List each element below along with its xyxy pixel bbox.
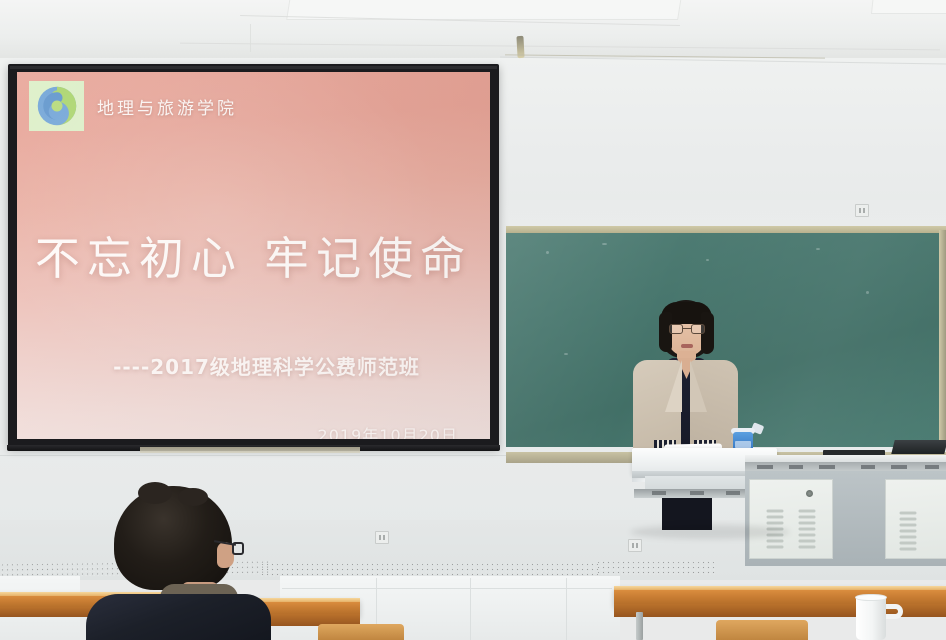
mug-handle bbox=[884, 604, 903, 619]
tile-seam bbox=[282, 588, 612, 589]
rail-marking bbox=[726, 491, 740, 495]
rail-marking bbox=[690, 491, 704, 495]
chalk-dust bbox=[546, 251, 549, 254]
rail-marking bbox=[925, 465, 939, 469]
cabinet-door[interactable] bbox=[885, 479, 946, 559]
counter-equipment bbox=[891, 440, 946, 454]
rail-marking bbox=[757, 465, 773, 469]
projection-screen[interactable]: 地理与旅游学院 不忘初心 牢记使命 ----2017级地理科学公费师范班 201… bbox=[8, 64, 499, 447]
rail-marking bbox=[789, 465, 803, 469]
classroom-photo-scene: 地理与旅游学院 不忘初心 牢记使命 ----2017级地理科学公费师范班 201… bbox=[0, 0, 946, 640]
student-hair bbox=[114, 486, 232, 590]
cabinet-door[interactable] bbox=[749, 479, 833, 559]
rail-marking bbox=[652, 491, 666, 495]
chalk-dust bbox=[816, 248, 820, 250]
ceiling-seam bbox=[250, 24, 251, 52]
student-glasses-icon bbox=[232, 542, 244, 555]
student-foreground bbox=[86, 486, 271, 640]
wall-seam bbox=[0, 455, 506, 456]
rail-marking bbox=[861, 465, 875, 469]
podium-shadow bbox=[630, 525, 790, 539]
wall-outlet[interactable] bbox=[628, 539, 642, 552]
mug-rim bbox=[855, 594, 887, 601]
presenter-mouth bbox=[681, 344, 693, 348]
cabinet-knob[interactable] bbox=[806, 490, 813, 497]
baseboard bbox=[596, 560, 716, 576]
chalk-dust bbox=[706, 259, 709, 261]
screen-bezel-highlight bbox=[10, 66, 497, 69]
desk[interactable] bbox=[614, 586, 946, 606]
slide-vignette bbox=[17, 72, 490, 439]
podium-rail bbox=[634, 489, 752, 498]
wall-outlet[interactable] bbox=[375, 531, 389, 544]
blackboard-right-edge bbox=[939, 230, 946, 446]
white-mug[interactable] bbox=[856, 596, 886, 640]
student-hair-tuft bbox=[138, 482, 172, 504]
cup-label bbox=[735, 441, 751, 448]
rail-marking bbox=[819, 465, 835, 469]
presenter-glasses-icon bbox=[669, 324, 705, 334]
desk-leg bbox=[636, 612, 643, 640]
chalk-dust bbox=[602, 243, 607, 245]
chair-back[interactable] bbox=[716, 620, 808, 640]
chalk-dust bbox=[564, 353, 568, 355]
ceiling-light-panel bbox=[871, 0, 946, 14]
wall-outlet[interactable] bbox=[855, 204, 869, 217]
presentation-slide: 地理与旅游学院 不忘初心 牢记使命 ----2017级地理科学公费师范班 201… bbox=[17, 72, 490, 439]
student-jacket bbox=[86, 594, 271, 640]
chair-back[interactable] bbox=[318, 624, 404, 640]
student-hair-tuft bbox=[178, 488, 208, 506]
rail-marking bbox=[891, 465, 907, 469]
screen-bottom-bar bbox=[140, 447, 360, 453]
chalk-dust bbox=[866, 291, 869, 294]
